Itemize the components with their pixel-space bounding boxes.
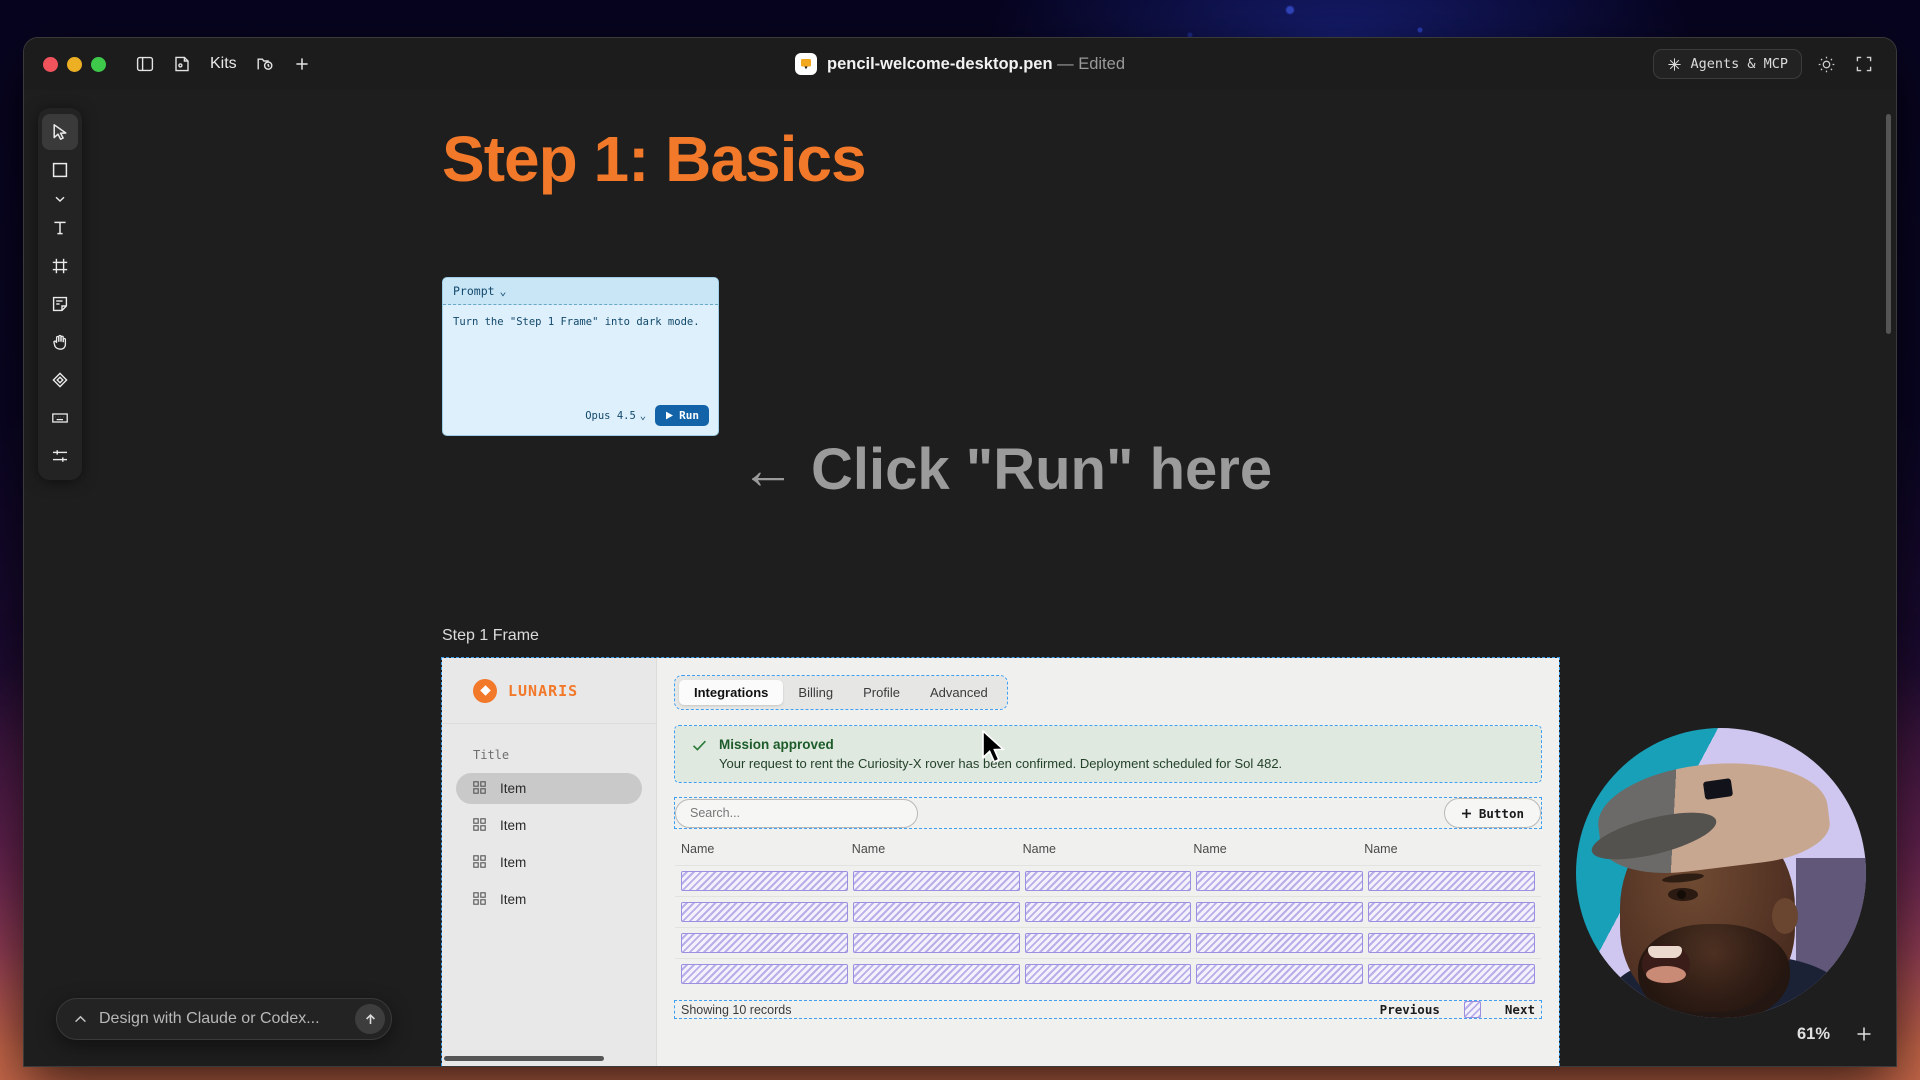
diamond-badge-icon xyxy=(473,679,497,703)
title-bar: Kits pencil-welcome-desktop.pen xyxy=(24,38,1896,90)
zoom-controls: 61% xyxy=(1797,1024,1874,1044)
webcam-teeth xyxy=(1648,946,1682,958)
table-cell-placeholder xyxy=(1368,933,1535,953)
table-cell-placeholder xyxy=(853,964,1020,984)
chevron-down-icon[interactable]: ⌄ xyxy=(500,284,507,298)
hand-tool[interactable] xyxy=(42,324,78,360)
select-tool[interactable] xyxy=(42,114,78,150)
webcam-lip xyxy=(1646,966,1686,983)
table-cell-placeholder xyxy=(1025,933,1192,953)
table-row[interactable] xyxy=(675,927,1541,958)
sliders-icon xyxy=(51,447,69,465)
frame-icon xyxy=(51,257,69,275)
table-cell-placeholder xyxy=(1368,964,1535,984)
frame-tool[interactable] xyxy=(42,248,78,284)
prompt-card-footer: Opus 4.5 ⌄ Run xyxy=(443,405,718,435)
webcam-ear xyxy=(1772,898,1798,934)
component-tool[interactable] xyxy=(42,362,78,398)
brand-name: LUNARIS xyxy=(508,682,578,700)
table-cell-placeholder xyxy=(681,964,848,984)
sidebar-toggle-icon[interactable] xyxy=(130,50,160,78)
add-button-label: Button xyxy=(1479,806,1524,821)
fullscreen-icon[interactable] xyxy=(1850,50,1878,78)
webcam-overlay xyxy=(1576,728,1866,1018)
status-alert[interactable]: Mission approved Your request to rent th… xyxy=(675,726,1541,782)
agents-and-mcp-button[interactable]: Agents & MCP xyxy=(1653,49,1802,79)
kits-panel-icon[interactable] xyxy=(167,50,197,78)
table-header-cell: Name xyxy=(681,842,852,856)
table-cell-placeholder xyxy=(681,933,848,953)
kits-label[interactable]: Kits xyxy=(206,55,241,73)
table-cell-placeholder xyxy=(1368,902,1535,922)
table-header-cell: Name xyxy=(852,842,1023,856)
grid-icon xyxy=(473,781,486,797)
model-selector[interactable]: Opus 4.5 ⌄ xyxy=(585,410,646,422)
check-icon xyxy=(691,737,708,754)
settings-tool[interactable] xyxy=(42,438,78,474)
table-toolbar: Search... Button xyxy=(675,798,1541,828)
data-table: Name Name Name Name Name xyxy=(675,842,1541,989)
table-row[interactable] xyxy=(675,896,1541,927)
chevron-down-icon xyxy=(53,192,67,206)
table-cell-placeholder xyxy=(1368,871,1535,891)
prompt-textarea[interactable]: Turn the "Step 1 Frame" into dark mode. xyxy=(443,305,718,405)
grid-icon xyxy=(473,855,486,871)
arrow-up-circle-icon[interactable] xyxy=(355,1004,385,1034)
note-tool[interactable] xyxy=(42,286,78,322)
table-cell-placeholder xyxy=(681,871,848,891)
step-1-frame[interactable]: LUNARIS Title Item xyxy=(442,658,1559,1066)
canvas-heading[interactable]: Step 1: Basics xyxy=(442,122,866,196)
frame-main: Integrations Billing Profile Advanced Mi… xyxy=(657,658,1559,1066)
agents-button-label: Agents & MCP xyxy=(1690,56,1788,72)
table-footer: Showing 10 records Previous Next xyxy=(675,1001,1541,1018)
table-cell-placeholder xyxy=(1196,902,1363,922)
keyboard-icon xyxy=(51,409,69,427)
rectangle-tool[interactable] xyxy=(42,152,78,188)
table-cell-placeholder xyxy=(1025,871,1192,891)
tool-rail xyxy=(38,108,82,480)
chevron-up-icon[interactable] xyxy=(73,1012,88,1027)
grid-icon xyxy=(473,892,486,908)
editor-canvas[interactable]: Step 1: Basics Prompt ⌄ Turn the "Step 1… xyxy=(24,90,1896,1066)
pagination: Previous Next xyxy=(1380,1001,1535,1018)
design-prompt-input[interactable]: Design with Claude or Codex... xyxy=(99,1010,344,1028)
record-count: Showing 10 records xyxy=(681,1003,791,1017)
minimize-button[interactable] xyxy=(67,57,82,72)
tab-advanced[interactable]: Advanced xyxy=(915,680,1003,705)
tab-integrations[interactable]: Integrations xyxy=(679,680,783,705)
pencil-app-icon xyxy=(795,53,817,75)
table-row[interactable] xyxy=(675,865,1541,896)
hand-icon xyxy=(51,333,69,351)
table-cell-placeholder xyxy=(853,902,1020,922)
table-header-cell: Name xyxy=(1023,842,1194,856)
zoom-in-icon[interactable] xyxy=(1854,1024,1874,1044)
document-edited-state: — Edited xyxy=(1057,55,1125,73)
brand-block: LUNARIS xyxy=(442,658,656,724)
diamond-icon xyxy=(51,371,69,389)
callout-text: Click "Run" here xyxy=(811,436,1272,503)
prompt-header-label: Prompt xyxy=(453,284,495,298)
table-cell-placeholder xyxy=(1196,871,1363,891)
frame-sidebar: LUNARIS Title Item xyxy=(442,658,657,1066)
sidebar-item-2[interactable]: Item xyxy=(456,847,642,878)
left-arrow-icon: ← xyxy=(741,439,795,501)
prompt-card-header[interactable]: Prompt ⌄ xyxy=(443,278,718,305)
table-header-row: Name Name Name Name Name xyxy=(675,842,1541,865)
sidebar-item-0[interactable]: Item xyxy=(456,773,642,804)
zoom-level-label[interactable]: 61% xyxy=(1797,1025,1830,1044)
add-button[interactable]: Button xyxy=(1444,798,1541,828)
new-tab-icon[interactable] xyxy=(287,50,317,78)
close-button[interactable] xyxy=(43,57,58,72)
previous-button[interactable]: Previous xyxy=(1380,1002,1440,1017)
app-window: Kits pencil-welcome-desktop.pen xyxy=(24,38,1896,1066)
text-t-icon xyxy=(51,219,69,237)
sidebar-item-label: Item xyxy=(500,781,526,796)
sticky-note-icon xyxy=(51,295,69,313)
table-cell-placeholder xyxy=(1196,933,1363,953)
table-cell-placeholder xyxy=(1025,964,1192,984)
document-filename: pencil-welcome-desktop.pen xyxy=(827,55,1053,73)
sidebar-item-label: Item xyxy=(500,892,526,907)
table-header-cell: Name xyxy=(1364,842,1535,856)
tab-profile[interactable]: Profile xyxy=(848,680,915,705)
run-button[interactable]: Run xyxy=(655,405,709,426)
sidebar-item-label: Item xyxy=(500,855,526,870)
horizontal-scrollbar[interactable] xyxy=(444,1056,604,1061)
vertical-scrollbar[interactable] xyxy=(1886,114,1891,334)
prompt-card[interactable]: Prompt ⌄ Turn the "Step 1 Frame" into da… xyxy=(442,277,719,436)
table-cell-placeholder xyxy=(853,871,1020,891)
tab-billing[interactable]: Billing xyxy=(783,680,848,705)
run-button-label: Run xyxy=(679,409,699,422)
tab-bar[interactable]: Integrations Billing Profile Advanced xyxy=(675,676,1007,709)
titlebar-right-tools: Agents & MCP xyxy=(1653,38,1878,90)
frame-label[interactable]: Step 1 Frame xyxy=(442,627,539,645)
keyboard-tool[interactable] xyxy=(42,400,78,436)
design-prompt-bar[interactable]: Design with Claude or Codex... xyxy=(56,998,392,1040)
search-input[interactable]: Search... xyxy=(675,799,918,828)
sidebar-item-label: Item xyxy=(500,818,526,833)
play-icon xyxy=(665,411,674,420)
titlebar-left-tools: Kits xyxy=(130,50,317,78)
square-icon xyxy=(51,161,69,179)
shape-more-tool[interactable] xyxy=(42,190,78,208)
table-cell-placeholder xyxy=(1196,964,1363,984)
webcam-cap-logo xyxy=(1703,778,1733,800)
sun-icon[interactable] xyxy=(1812,50,1840,78)
cursor-icon xyxy=(51,123,69,141)
recent-files-icon[interactable] xyxy=(250,50,280,78)
grid-icon xyxy=(473,818,486,834)
maximize-button[interactable] xyxy=(91,57,106,72)
run-callout: ← Click "Run" here xyxy=(741,436,1272,503)
page-indicator-placeholder[interactable] xyxy=(1464,1001,1481,1018)
sparkle-icon xyxy=(1667,57,1682,72)
mouse-cursor xyxy=(981,730,1007,764)
table-cell-placeholder xyxy=(681,902,848,922)
table-header-cell: Name xyxy=(1193,842,1364,856)
text-tool[interactable] xyxy=(42,210,78,246)
table-cell-placeholder xyxy=(853,933,1020,953)
sidebar-nav: Title Item xyxy=(442,724,656,921)
table-cell-placeholder xyxy=(1025,902,1192,922)
chevron-down-icon: ⌄ xyxy=(640,410,646,422)
plus-icon xyxy=(1461,808,1472,819)
sidebar-nav-title: Title xyxy=(456,748,642,762)
table-row[interactable] xyxy=(675,958,1541,989)
document-title: pencil-welcome-desktop.pen — Edited xyxy=(827,55,1125,74)
sidebar-item-3[interactable]: Item xyxy=(456,884,642,915)
next-button[interactable]: Next xyxy=(1505,1002,1535,1017)
sidebar-item-1[interactable]: Item xyxy=(456,810,642,841)
traffic-lights xyxy=(24,57,106,72)
model-name-label: Opus 4.5 xyxy=(585,410,636,422)
webcam-eye xyxy=(1668,888,1698,901)
